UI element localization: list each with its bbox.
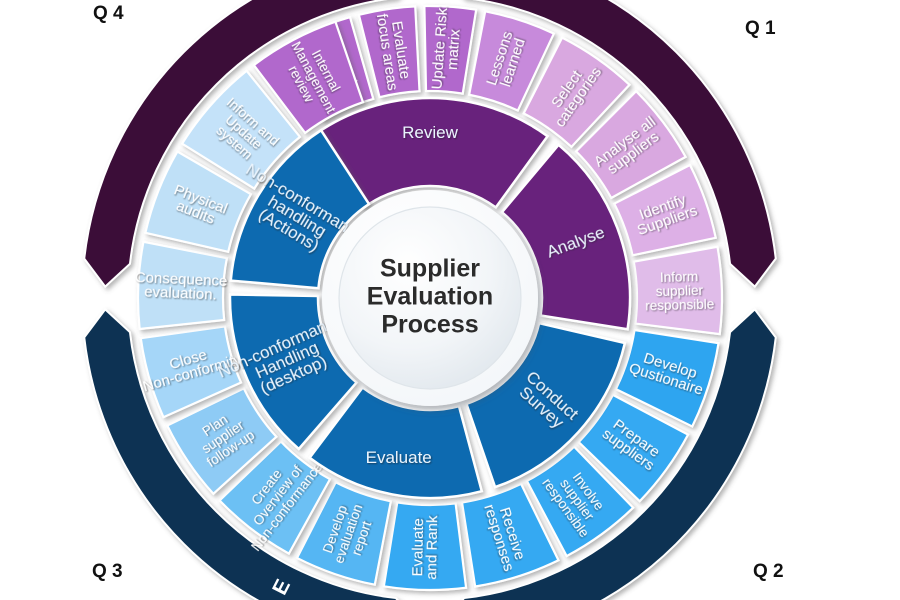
supplier-evaluation-diagram: InternalManagementreviewEvaluatefocus ar…: [0, 0, 900, 600]
inner-segment-label: Review: [402, 123, 458, 142]
quadrant-label-q4: Q 4: [93, 3, 124, 25]
hub-title-line1: Supplier: [380, 255, 480, 283]
q4-text: Q 4: [93, 3, 124, 24]
q2-text: Q 2: [753, 561, 784, 582]
outer-segment[interactable]: Informsupplierresponsible: [634, 247, 722, 334]
center-hub: Supplier Evaluation Process: [322, 190, 538, 406]
outer-segment[interactable]: Update Riskmatrix: [424, 6, 476, 94]
inner-segment-label: Evaluate: [366, 448, 432, 467]
outer-segment-label: Consequenceevaluation.: [134, 269, 228, 304]
outer-segment[interactable]: Evaluateand Rank: [384, 502, 466, 590]
wheel-svg: InternalManagementreviewEvaluatefocus ar…: [0, 0, 900, 600]
hub-title-line2: Evaluation: [367, 283, 493, 311]
quadrant-label-q1: Q 1: [745, 18, 776, 40]
q3-text: Q 3: [92, 561, 123, 582]
quadrant-label-q3: Q 3: [92, 561, 123, 583]
outer-segment-label: Evaluateand Rank: [409, 515, 441, 580]
quadrant-label-q2: Q 2: [753, 561, 784, 583]
outer-segment[interactable]: Consequenceevaluation.: [134, 242, 228, 329]
hub-title-line3: Process: [381, 311, 478, 339]
q1-text: Q 1: [745, 18, 776, 39]
